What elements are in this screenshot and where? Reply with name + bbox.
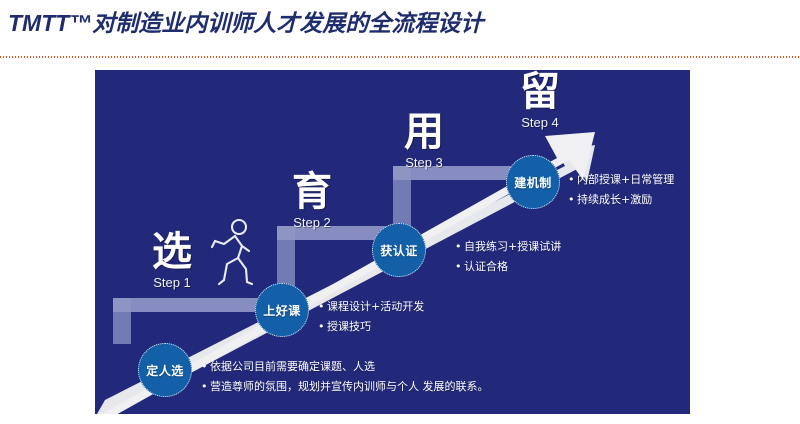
- node-circle-3[interactable]: 获认证: [372, 223, 426, 277]
- bullet-item: •自我练习+授课试讲: [455, 237, 561, 257]
- bullet-text: 持续成长+激励: [577, 193, 652, 206]
- bullet-group-4: •内部授课+日常管理 •持续成长+激励: [568, 170, 674, 210]
- stage-step-label-3: Step 3: [385, 154, 463, 172]
- stage-heading-4: 留 Step 4: [501, 70, 579, 132]
- stage-heading-1: 选 Step 1: [133, 230, 211, 292]
- node-circle-4[interactable]: 建机制: [506, 155, 560, 209]
- bullet-text: 内部授课+日常管理: [577, 173, 674, 186]
- node-label-1: 定人选: [146, 362, 184, 379]
- bullet-text: 认证合格: [464, 260, 508, 273]
- bullet-dot-icon: •: [201, 357, 210, 377]
- node-label-4: 建机制: [514, 174, 552, 191]
- stage-heading-2: 育 Step 2: [273, 170, 351, 232]
- bullet-item: •授课技巧: [318, 317, 424, 337]
- bullet-dot-icon: •: [201, 377, 210, 397]
- node-label-2: 上好课: [263, 302, 301, 319]
- bullet-item: •内部授课+日常管理: [568, 170, 674, 190]
- bullet-dot-icon: •: [318, 317, 327, 337]
- stage-glyph-4: 留: [501, 70, 579, 114]
- title-divider: [0, 56, 800, 58]
- bullet-text: 营造尊师的氛围，规划并宣传内训师与个人 发展的联系。: [210, 380, 489, 393]
- stage-heading-3: 用 Step 3: [385, 110, 463, 172]
- stage-glyph-2: 育: [273, 170, 351, 214]
- bullet-group-3: •自我练习+授课试讲 •认证合格: [455, 237, 561, 277]
- stage-step-label-2: Step 2: [273, 214, 351, 232]
- bullet-text: 课程设计+活动开发: [327, 300, 424, 313]
- bullet-dot-icon: •: [568, 190, 577, 210]
- stage-step-label-1: Step 1: [133, 274, 211, 292]
- stage-glyph-1: 选: [133, 230, 211, 274]
- bullet-text: 依据公司目前需要确定课题、人选: [210, 360, 375, 373]
- bullet-dot-icon: •: [318, 297, 327, 317]
- bullet-item: •依据公司目前需要确定课题、人选: [201, 357, 489, 377]
- bullet-item: •持续成长+激励: [568, 190, 674, 210]
- bullet-dot-icon: •: [455, 237, 464, 257]
- bullet-group-1: •依据公司目前需要确定课题、人选 •营造尊师的氛围，规划并宣传内训师与个人 发展…: [201, 357, 489, 397]
- node-label-3: 获认证: [380, 242, 418, 259]
- diagram-panel: 选 Step 1 育 Step 2 用 Step 3 留 Step 4 定人选 …: [95, 70, 690, 414]
- bullet-text: 自我练习+授课试讲: [464, 240, 561, 253]
- bullet-item: •营造尊师的氛围，规划并宣传内训师与个人 发展的联系。: [201, 377, 489, 397]
- bullet-item: •认证合格: [455, 257, 561, 277]
- stage-step-label-4: Step 4: [501, 114, 579, 132]
- bullet-group-2: •课程设计+活动开发 •授课技巧: [318, 297, 424, 337]
- bullet-text: 授课技巧: [327, 320, 371, 333]
- node-circle-1[interactable]: 定人选: [138, 343, 192, 397]
- page-title: TMTT™对制造业内训师人才发展的全流程设计: [8, 6, 483, 40]
- node-circle-2[interactable]: 上好课: [255, 283, 309, 337]
- bullet-item: •课程设计+活动开发: [318, 297, 424, 317]
- bullet-dot-icon: •: [568, 170, 577, 190]
- stage-glyph-3: 用: [385, 110, 463, 154]
- bullet-dot-icon: •: [455, 257, 464, 277]
